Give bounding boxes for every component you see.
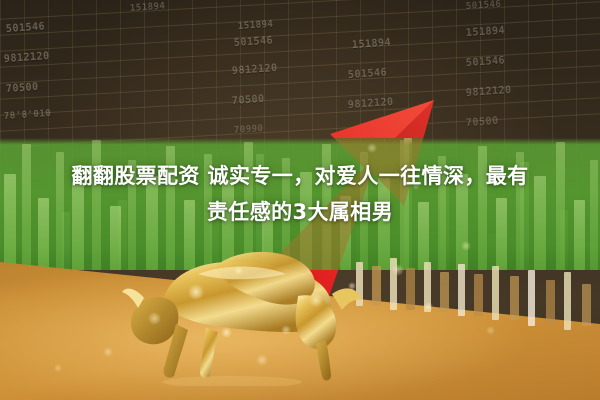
bokeh-particle: [221, 327, 232, 338]
banner-image: 1518941518945015465015461518945015461518…: [0, 0, 600, 400]
bokeh-particle: [234, 266, 243, 275]
floor-bar: [528, 270, 535, 326]
bull-statue-icon: [120, 236, 370, 386]
floor-bar: [582, 284, 591, 326]
bokeh-particle: [148, 312, 161, 325]
floor-bar: [510, 276, 519, 320]
bokeh-particle: [309, 293, 323, 307]
floor-bar: [564, 272, 571, 330]
bokeh-particle: [256, 354, 268, 366]
bokeh-particle: [281, 325, 291, 335]
bokeh-particle: [424, 302, 433, 311]
bokeh-particle: [188, 284, 204, 300]
floor-bar: [474, 274, 483, 316]
bokeh-particle: [348, 282, 356, 290]
bokeh-particle: [461, 241, 471, 251]
bokeh-particle: [367, 143, 377, 153]
floor-bar: [458, 264, 465, 316]
bokeh-particle: [392, 264, 404, 276]
floor-bar: [372, 266, 381, 306]
floor-bar: [440, 272, 449, 312]
bokeh-particle: [486, 326, 495, 335]
bokeh-particle: [412, 182, 420, 190]
bokeh-particle: [103, 347, 113, 357]
floor-bar: [406, 268, 415, 310]
floor-bar: [546, 280, 555, 324]
bokeh-particle: [54, 364, 62, 372]
floor-bar: [492, 266, 499, 320]
